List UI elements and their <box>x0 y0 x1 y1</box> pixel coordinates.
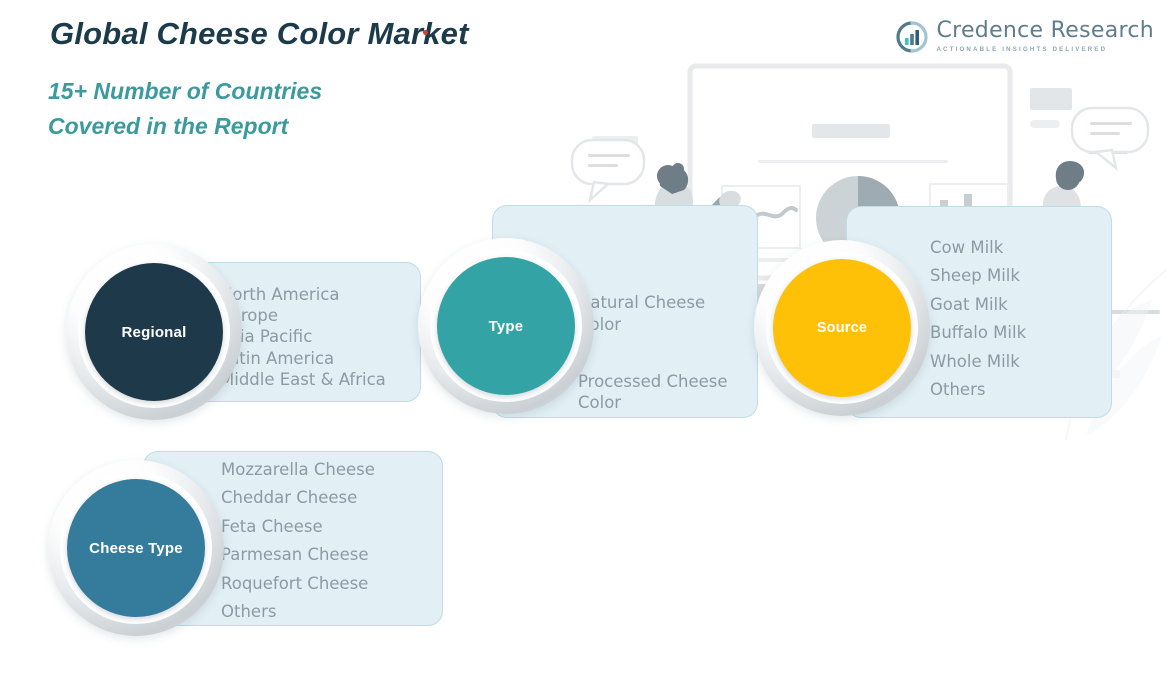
list-item: Processed Cheese Color <box>578 371 748 414</box>
segment-circle-label[interactable]: Type <box>437 257 575 395</box>
credence-research-logo: Credence Research Actionable Insights De… <box>896 20 1154 53</box>
title-accent-dot-icon <box>423 30 428 35</box>
page-title: Global Cheese Color Market <box>50 16 469 52</box>
segment-card-regional[interactable]: North America Europe Asia Pacific Latin … <box>38 244 428 424</box>
segment-card-type[interactable]: Natural Cheese Color Processed Cheese Co… <box>408 200 768 432</box>
segment-item-list: Mozzarella Cheese Cheddar Cheese Feta Ch… <box>221 456 437 626</box>
segment-card-source[interactable]: Cow Milk Sheep Milk Goat Milk Buffalo Mi… <box>742 198 1124 436</box>
page-subtitle: 15+ Number of Countries Covered in the R… <box>48 74 322 144</box>
segment-item-list: North America Europe Asia Pacific Latin … <box>220 284 420 390</box>
segment-item-list: Natural Cheese Color Processed Cheese Co… <box>578 271 748 449</box>
segment-card-cheese-type[interactable]: Mozzarella Cheese Cheddar Cheese Feta Ch… <box>38 450 428 630</box>
logo-name: Credence Research <box>936 20 1154 42</box>
infographic-canvas: Global Cheese Color Market 15+ Number of… <box>0 0 1176 677</box>
list-item: Natural Cheese Color <box>578 292 748 335</box>
segment-circle-label[interactable]: Regional <box>85 263 223 401</box>
segment-item-list: Cow Milk Sheep Milk Goat Milk Buffalo Mi… <box>930 234 1106 404</box>
logo-text: Credence Research Actionable Insights De… <box>936 20 1154 53</box>
logo-tagline: Actionable Insights Delivered <box>936 46 1154 53</box>
segment-circle-label[interactable]: Source <box>773 259 911 397</box>
bar-chart-circle-icon <box>896 21 928 53</box>
segment-circle-label[interactable]: Cheese Type <box>67 479 205 617</box>
